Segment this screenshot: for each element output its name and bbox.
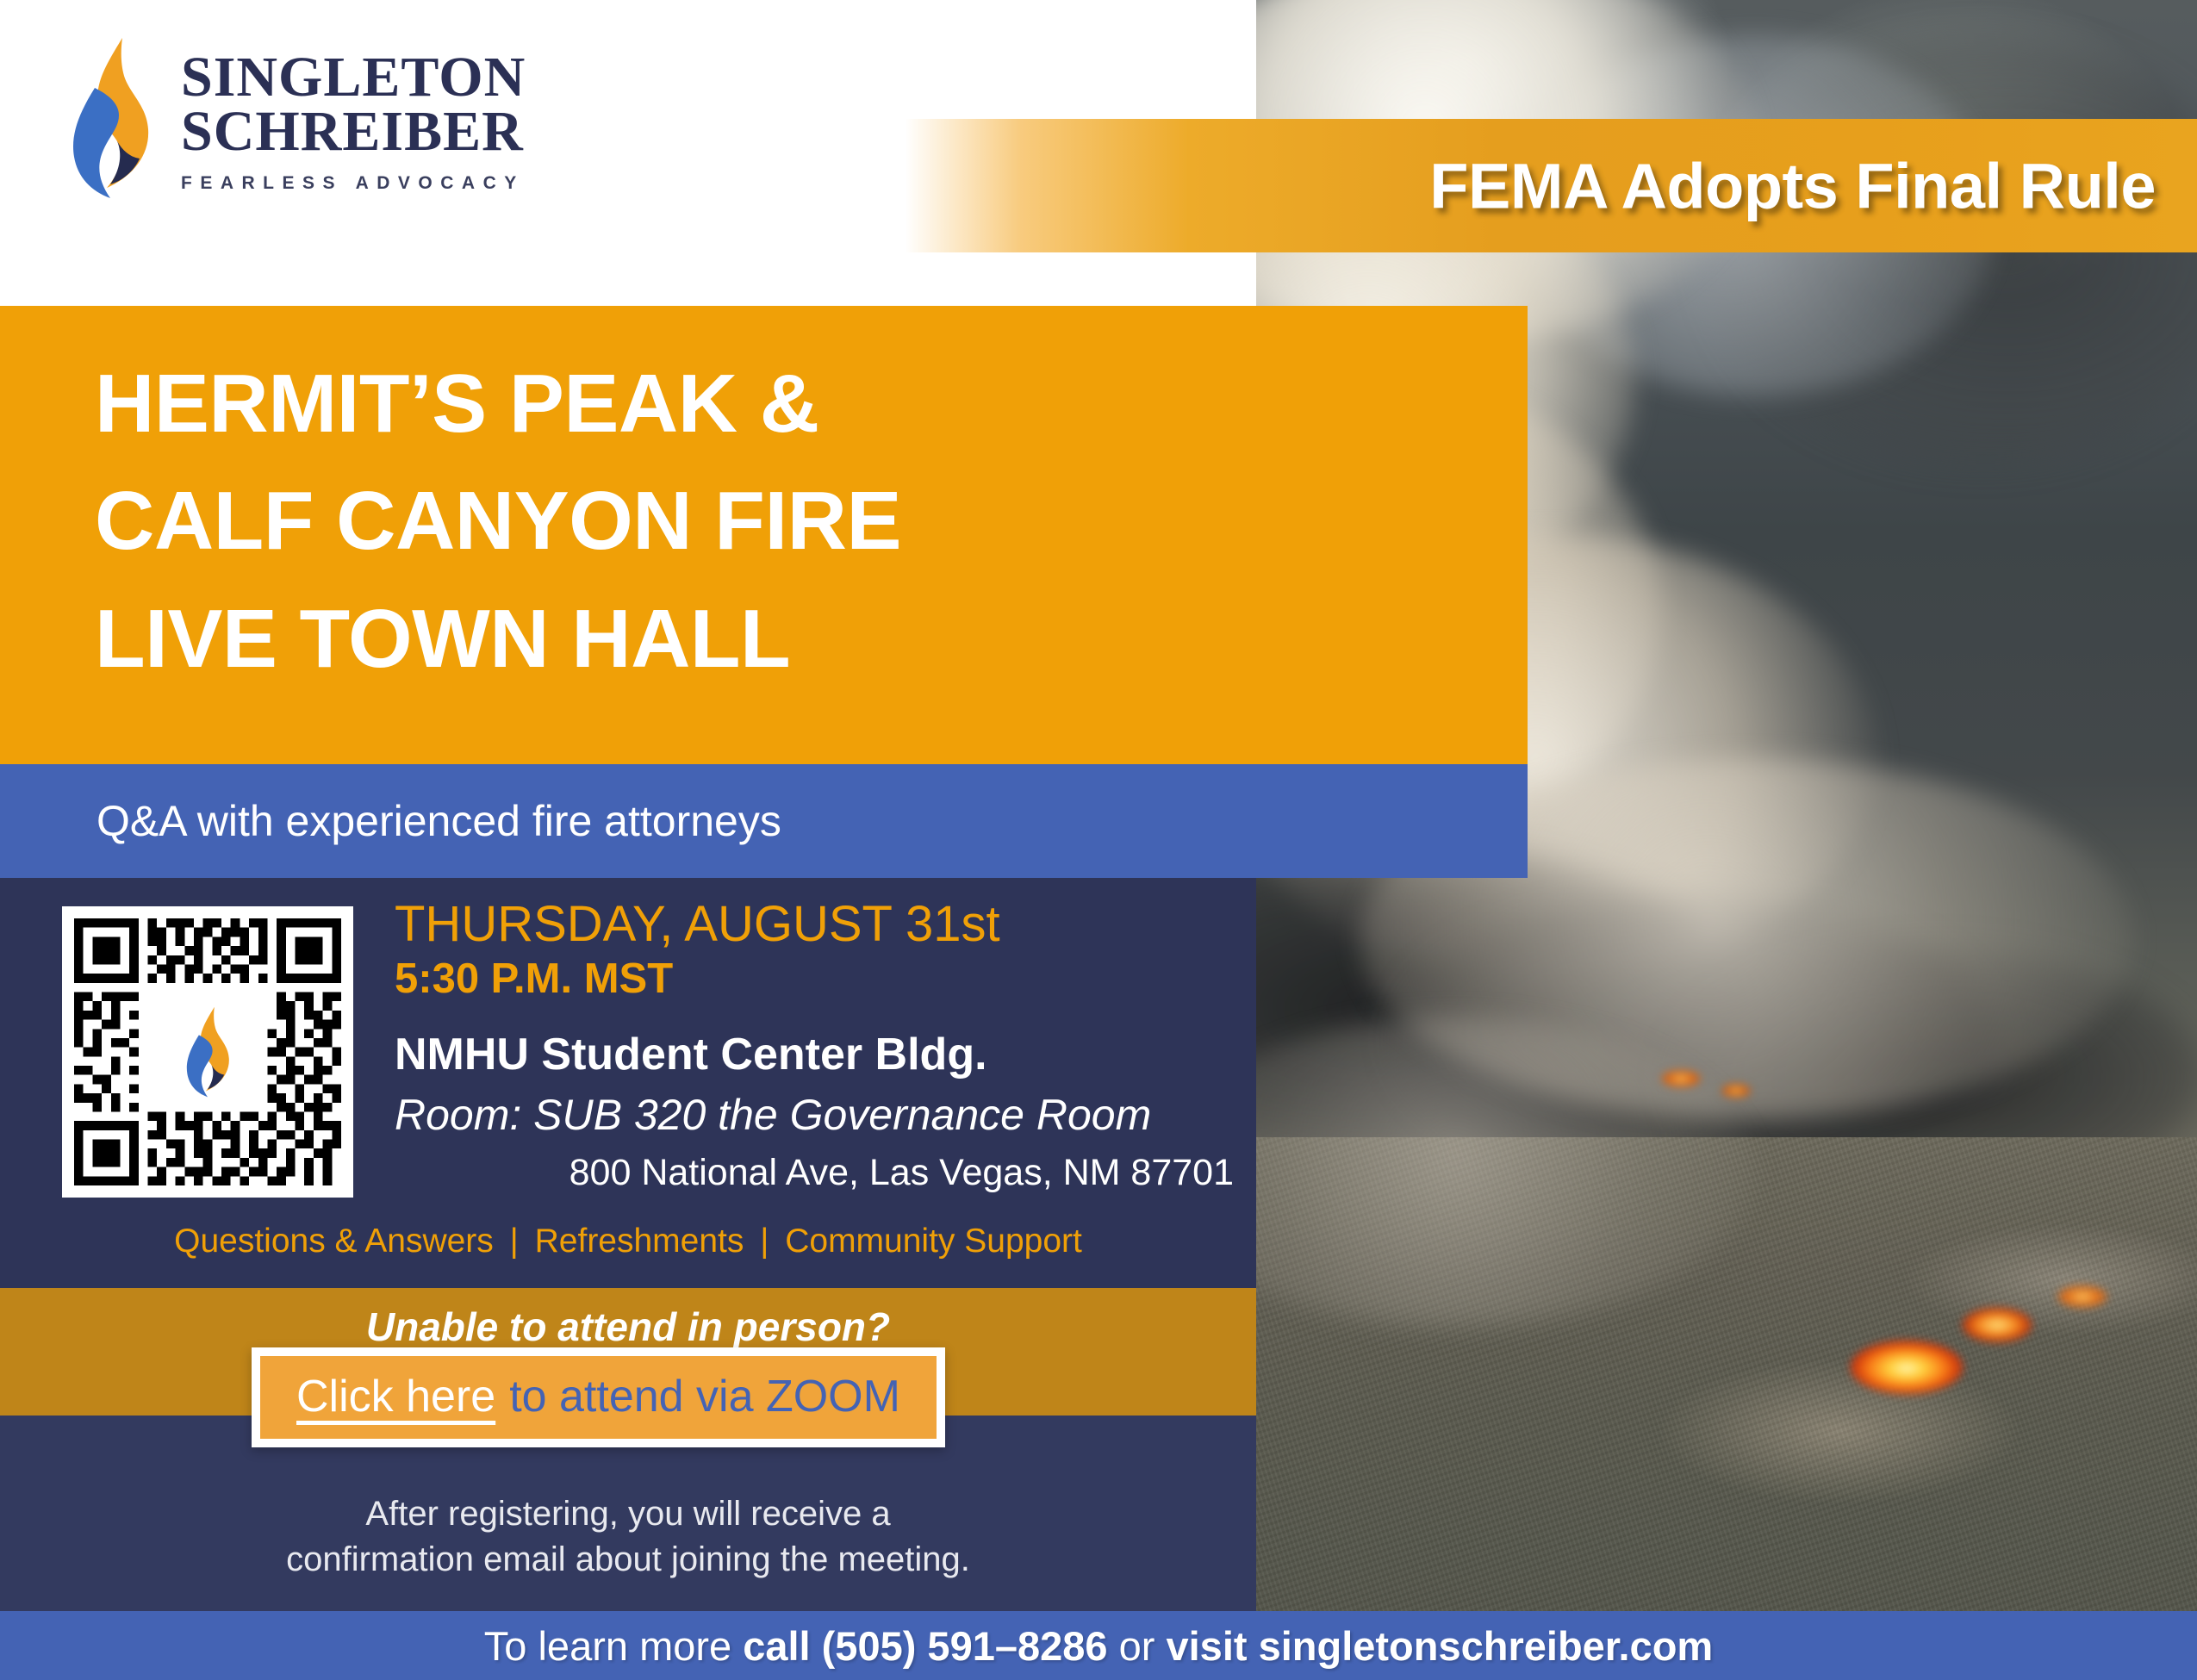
fire-hotspot-1 (1851, 1341, 1963, 1394)
feature-community: Community Support (785, 1223, 1082, 1260)
feature-separator-2: | (753, 1223, 775, 1260)
feature-questions: Questions & Answers (174, 1223, 494, 1260)
qr-center-flame-icon (181, 1000, 234, 1104)
registration-note-line-1: After registering, you will receive a (0, 1491, 1256, 1537)
virtual-attend-prompt: Unable to attend in person? (0, 1304, 1256, 1350)
qr-code-container[interactable] (62, 906, 353, 1198)
zoom-cta-frame[interactable]: Click here to attend via ZOOM (252, 1347, 945, 1447)
event-venue: NMHU Student Center Bldg. (395, 1030, 1239, 1080)
qr-code-inner (74, 918, 341, 1185)
flame-logo-icon (69, 36, 152, 200)
brand-wordmark: SINGLETON SCHREIBER FEARLESS ADVOCACY (181, 36, 526, 194)
header-bar: SINGLETON SCHREIBER FEARLESS ADVOCACY (0, 0, 941, 291)
event-features: Questions & Answers | Refreshments | Com… (0, 1223, 1256, 1260)
registration-note: After registering, you will receive a co… (0, 1491, 1256, 1583)
fema-announcement-banner: FEMA Adopts Final Rule (905, 119, 2197, 252)
footer-contact: To learn more call (505) 591–8286 or vis… (484, 1622, 1713, 1670)
event-address: 800 National Ave, Las Vegas, NM 87701 (395, 1153, 1239, 1193)
flyer-poster: SINGLETON SCHREIBER FEARLESS ADVOCACY FE… (0, 0, 2197, 1680)
registration-note-line-2: confirmation email about joining the mee… (0, 1537, 1256, 1583)
title-line-2: CALF CANYON FIRE (95, 463, 1493, 580)
zoom-registration-panel: Click here to attend via ZOOM After regi… (0, 1416, 1256, 1611)
zoom-cta-link[interactable]: Click here (296, 1371, 495, 1422)
title-line-3: LIVE TOWN HALL (95, 581, 1493, 698)
footer-phone[interactable]: call (505) 591–8286 (743, 1623, 1107, 1669)
event-time: 5:30 P.M. MST (395, 955, 1239, 1005)
zoom-cta-label: to attend via ZOOM (495, 1371, 900, 1422)
footer-middle: or (1108, 1623, 1167, 1669)
feature-refreshments: Refreshments (535, 1223, 744, 1260)
brand-tagline: FEARLESS ADVOCACY (181, 173, 526, 194)
event-date: THURSDAY, AUGUST 31st (395, 897, 1239, 953)
footer-website[interactable]: visit singletonschreiber.com (1166, 1623, 1713, 1669)
event-info: THURSDAY, AUGUST 31st 5:30 P.M. MST NMHU… (395, 897, 1239, 1193)
fire-hotspot-5 (1721, 1084, 1751, 1098)
fema-headline: FEMA Adopts Final Rule (1429, 149, 2156, 222)
fire-hotspot-4 (1661, 1070, 1701, 1087)
footer-bar: To learn more call (505) 591–8286 or vis… (0, 1611, 2197, 1680)
event-room: Room: SUB 320 the Governance Room (395, 1092, 1239, 1139)
footer-lead: To learn more (484, 1623, 743, 1669)
title-line-1: HERMIT’S PEAK & (95, 345, 1493, 463)
event-details-panel: THURSDAY, AUGUST 31st 5:30 P.M. MST NMHU… (0, 878, 1256, 1288)
fire-hotspot-2 (1963, 1308, 2032, 1342)
main-title-block: HERMIT’S PEAK & CALF CANYON FIRE LIVE TO… (0, 306, 1528, 764)
subtitle-band: Q&A with experienced fire attorneys (0, 764, 1528, 878)
fire-hotspot-3 (2057, 1285, 2107, 1308)
feature-separator-1: | (503, 1223, 526, 1260)
brand-name-line-1: SINGLETON (181, 50, 526, 104)
subtitle-text: Q&A with experienced fire attorneys (96, 796, 781, 846)
brand-name-line-2: SCHREIBER (181, 104, 526, 159)
zoom-cta-button[interactable]: Click here to attend via ZOOM (260, 1356, 937, 1439)
main-title: HERMIT’S PEAK & CALF CANYON FIRE LIVE TO… (95, 345, 1493, 698)
brand-logo[interactable]: SINGLETON SCHREIBER FEARLESS ADVOCACY (69, 36, 526, 200)
